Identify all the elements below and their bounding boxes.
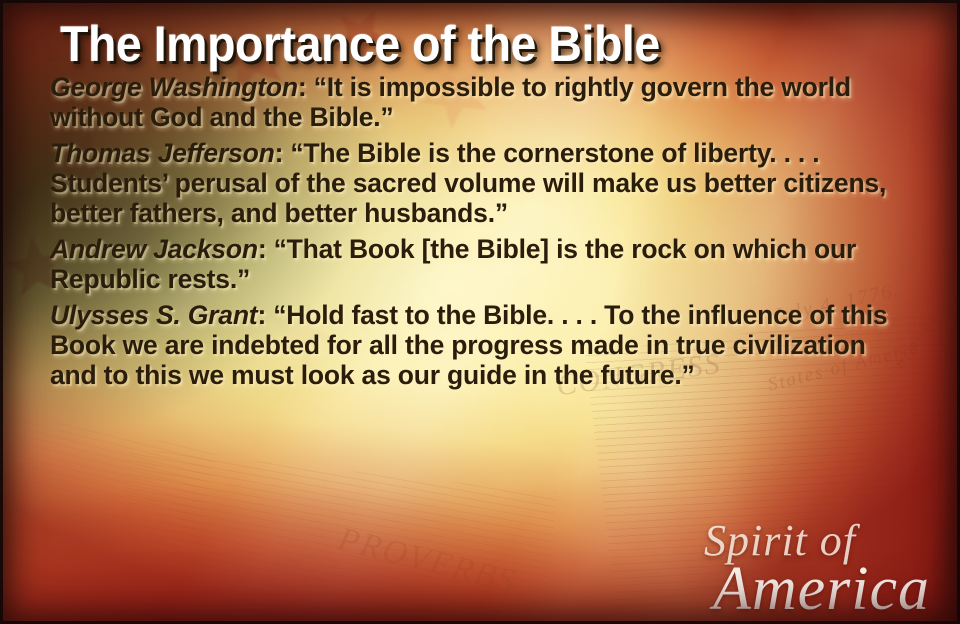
quote-2: Thomas Jefferson: “The Bible is the corn… bbox=[50, 138, 912, 228]
quote-separator: : bbox=[258, 234, 274, 264]
quote-speaker: Ulysses S. Grant bbox=[50, 300, 257, 330]
quote-separator: : bbox=[257, 300, 273, 330]
quote-separator: : bbox=[275, 138, 291, 168]
quote-list: George Washington: “It is impossible to … bbox=[50, 72, 934, 390]
quote-3: Andrew Jackson: “That Book [the Bible] i… bbox=[50, 234, 912, 294]
poster-content: The Importance of the Bible George Washi… bbox=[0, 0, 960, 624]
page-title: The Importance of the Bible bbox=[60, 18, 873, 70]
quote-1: George Washington: “It is impossible to … bbox=[50, 72, 912, 132]
poster-canvas: CONGRESSJuly 4, 1776.States of Americnim… bbox=[0, 0, 960, 624]
quote-4: Ulysses S. Grant: “Hold fast to the Bibl… bbox=[50, 300, 912, 390]
quote-speaker: George Washington bbox=[50, 72, 298, 102]
quote-speaker: Andrew Jackson bbox=[50, 234, 258, 264]
quote-speaker: Thomas Jefferson bbox=[50, 138, 275, 168]
quote-separator: : bbox=[298, 72, 314, 102]
